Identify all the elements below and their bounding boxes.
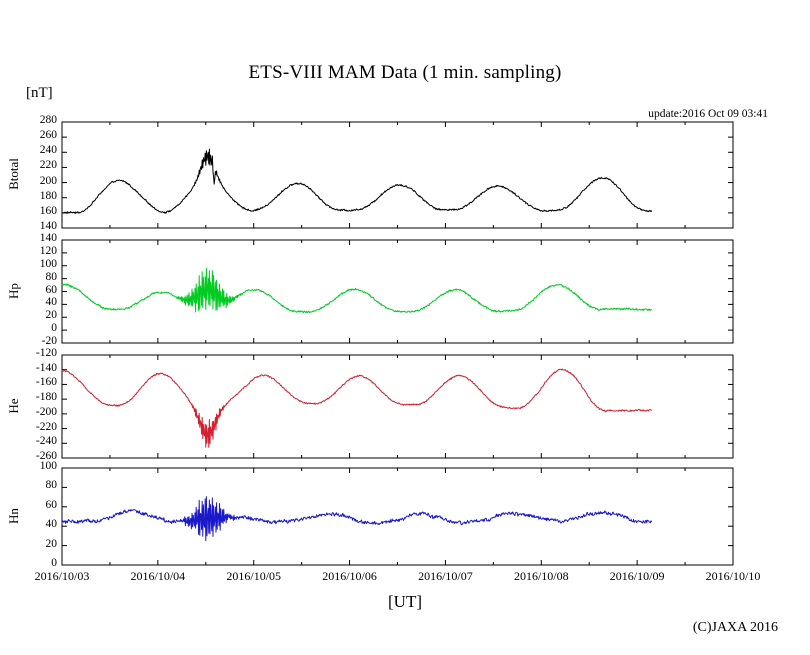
panel-label-hn: Hn (6, 476, 22, 556)
y-tick-label: 60 (21, 499, 57, 511)
y-tick-label: -20 (21, 335, 57, 347)
y-tick-label: 40 (21, 518, 57, 530)
panel-hp-graphics (0, 0, 810, 655)
chart-title: ETS-VIII MAM Data (1 min. sampling) (0, 62, 810, 84)
y-tick-label: 200 (21, 175, 57, 187)
y-tick-label: 100 (21, 258, 57, 270)
y-tick-label: 80 (21, 479, 57, 491)
y-tick-label: 280 (21, 114, 57, 126)
y-tick-label: 60 (21, 284, 57, 296)
x-tick-label: 2016/10/03 (17, 569, 107, 584)
y-tick-label: 40 (21, 296, 57, 308)
update-stamp: update:2016 Oct 09 03:41 (648, 108, 768, 120)
panel-btotal-graphics (0, 0, 810, 655)
panel-frame (62, 468, 733, 565)
y-tick-label: 20 (21, 538, 57, 550)
panel-hn-graphics (0, 0, 810, 655)
panel-label-btotal: Btotal (6, 134, 22, 214)
x-tick-label: 2016/10/07 (400, 569, 490, 584)
y-tick-label: 0 (21, 322, 57, 334)
panel-frame (62, 355, 733, 458)
y-tick-label: -140 (21, 362, 57, 374)
y-tick-label: 240 (21, 144, 57, 156)
x-tick-label: 2016/10/04 (113, 569, 203, 584)
panel-he-graphics (0, 0, 810, 655)
y-tick-label: 160 (21, 205, 57, 217)
panel-frame (62, 240, 733, 343)
y-tick-label: 140 (21, 232, 57, 244)
x-tick-label: 2016/10/10 (688, 569, 778, 584)
panel-frame (62, 122, 733, 228)
panel-label-hp: Hp (6, 251, 22, 331)
y-tick-label: -220 (21, 421, 57, 433)
chart-figure: ETS-VIII MAM Data (1 min. sampling) [nT]… (0, 0, 810, 655)
x-tick-label: 2016/10/05 (209, 569, 299, 584)
trace-hp (62, 268, 652, 312)
trace-hn (62, 497, 652, 541)
y-tick-label: -180 (21, 391, 57, 403)
x-tick-label: 2016/10/06 (305, 569, 395, 584)
y-tick-label: 260 (21, 129, 57, 141)
y-tick-label: 120 (21, 245, 57, 257)
y-tick-label: -200 (21, 406, 57, 418)
y-tick-label: 80 (21, 271, 57, 283)
y-unit-label: [nT] (26, 85, 53, 102)
x-tick-label: 2016/10/09 (592, 569, 682, 584)
copyright-notice: (C)JAXA 2016 (693, 620, 778, 636)
y-tick-label: 180 (21, 190, 57, 202)
x-tick-label: 2016/10/08 (496, 569, 586, 584)
y-tick-label: -120 (21, 347, 57, 359)
x-axis-label: [UT] (0, 592, 810, 612)
y-tick-label: -160 (21, 376, 57, 388)
y-tick-label: 140 (21, 220, 57, 232)
y-tick-label: 100 (21, 460, 57, 472)
trace-he (62, 369, 652, 447)
trace-btotal (62, 149, 652, 213)
panel-label-he: He (6, 366, 22, 446)
y-tick-label: 0 (21, 557, 57, 569)
y-tick-label: 20 (21, 309, 57, 321)
y-tick-label: -240 (21, 435, 57, 447)
y-tick-label: 220 (21, 159, 57, 171)
